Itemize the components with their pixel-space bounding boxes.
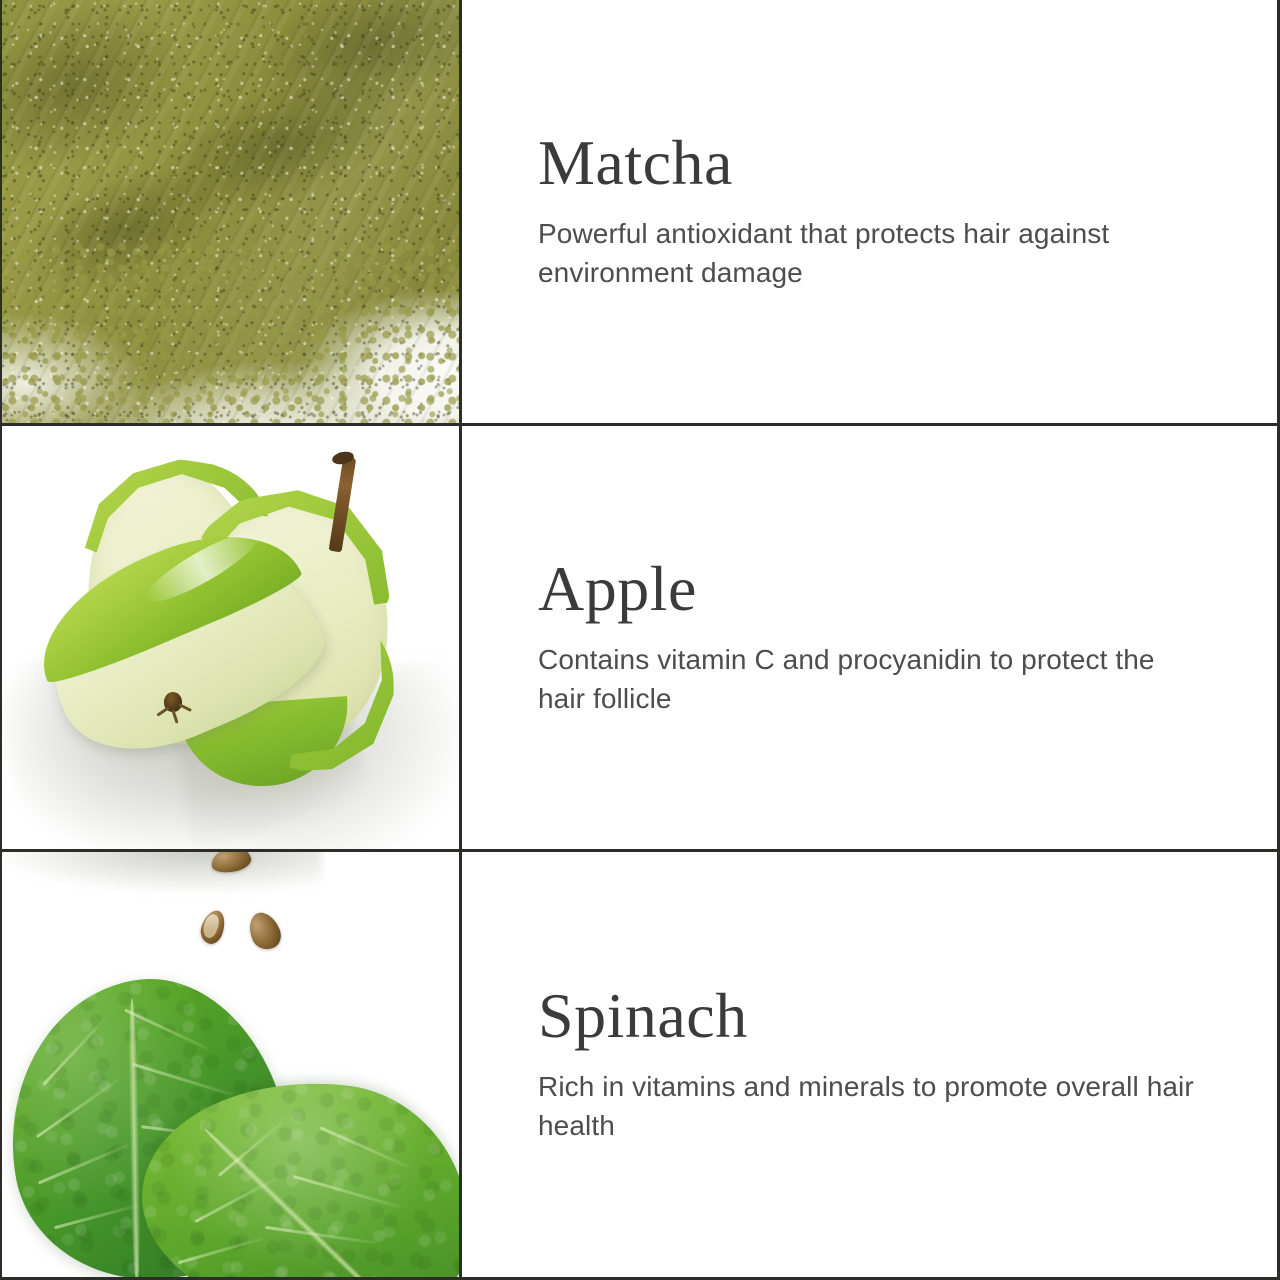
ingredient-row: Matcha Powerful antioxidant that protect… bbox=[2, 0, 1277, 426]
ingredient-row: Apple Contains vitamin C and procyanidin… bbox=[2, 426, 1277, 852]
ingredient-description: Rich in vitamins and minerals to promote… bbox=[538, 1068, 1198, 1145]
ingredients-card: Matcha Powerful antioxidant that protect… bbox=[0, 0, 1280, 1280]
spinach-leaf-front bbox=[130, 1065, 462, 1277]
apple-image-cell bbox=[2, 426, 462, 849]
spinach-text-cell: Spinach Rich in vitamins and minerals to… bbox=[462, 852, 1277, 1277]
ingredient-title: Spinach bbox=[538, 984, 1217, 1048]
matcha-scatter-specks bbox=[2, 233, 459, 423]
ingredient-title: Apple bbox=[538, 557, 1217, 621]
apple-calyx-hair bbox=[171, 709, 178, 723]
ingredient-description: Contains vitamin C and procyanidin to pr… bbox=[538, 641, 1198, 718]
apple-text-cell: Apple Contains vitamin C and procyanidin… bbox=[462, 426, 1277, 849]
ingredient-description: Powerful antioxidant that protects hair … bbox=[538, 215, 1198, 292]
spinach-image-cell bbox=[2, 852, 462, 1277]
apple-shadow-continuation bbox=[2, 852, 322, 894]
matcha-powder-photo bbox=[2, 0, 459, 423]
matcha-text-cell: Matcha Powerful antioxidant that protect… bbox=[462, 0, 1277, 423]
ingredient-title: Matcha bbox=[538, 131, 1217, 195]
green-apple-halved-photo bbox=[2, 426, 459, 849]
apple-calyx-hair bbox=[156, 706, 169, 716]
matcha-image-cell bbox=[2, 0, 462, 423]
ingredient-row: Spinach Rich in vitamins and minerals to… bbox=[2, 852, 1277, 1277]
leaf-texture bbox=[130, 1065, 462, 1277]
apple-seed bbox=[244, 908, 286, 955]
spinach-leaves-photo bbox=[2, 852, 459, 1277]
apple-core-remnant bbox=[154, 684, 196, 726]
